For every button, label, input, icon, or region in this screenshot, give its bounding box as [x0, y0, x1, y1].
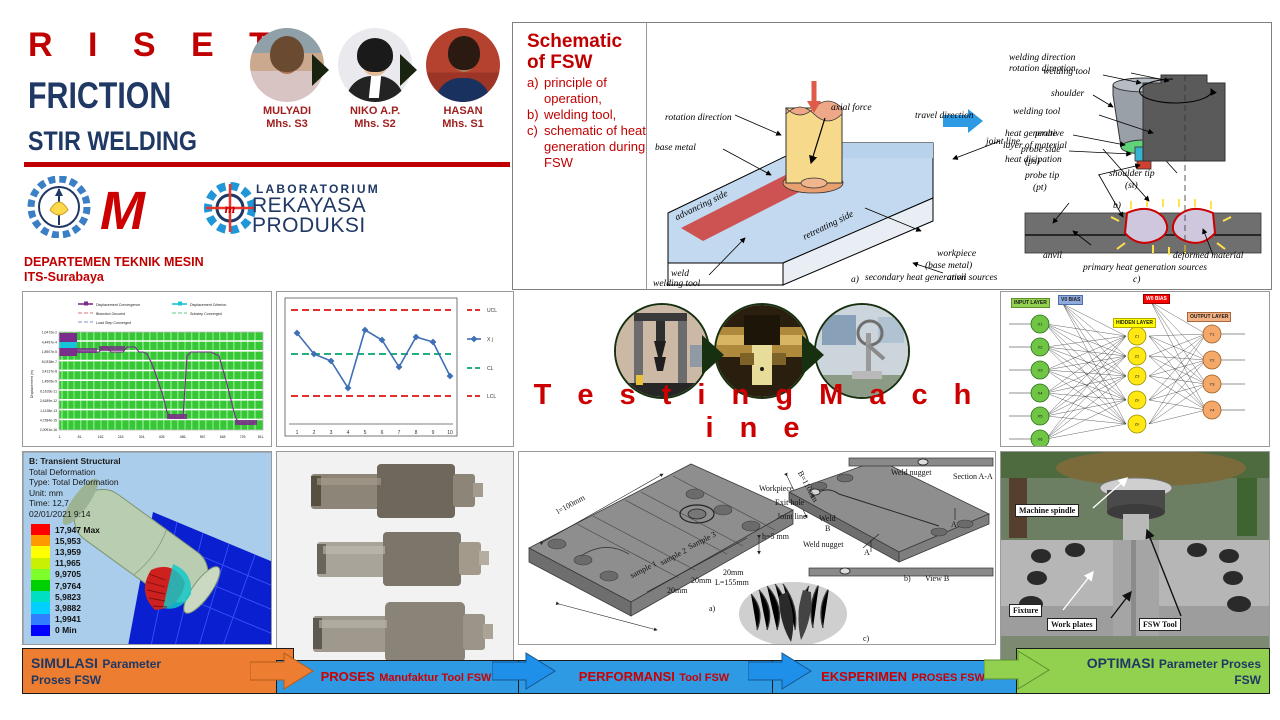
dim-20mm-2: 20mm [691, 576, 711, 585]
svg-text:X3: X3 [1038, 368, 1044, 373]
ann-output-layer-label: OUTPUT LAYER [1187, 312, 1231, 322]
legend-row: 9,9705 [31, 569, 100, 580]
svg-text:3: 3 [330, 430, 333, 436]
label-weld-nugget-2: Weld nugget [891, 468, 931, 477]
svg-text:Load Step Converged: Load Step Converged [96, 321, 131, 325]
svg-text:729.: 729. [240, 435, 247, 439]
header-divider [24, 162, 510, 167]
flow-arrow-4-icon [984, 650, 1050, 690]
label-heat-generative: heat generative [1005, 129, 1064, 139]
flow-arrow-3-icon [748, 652, 812, 690]
legend-row: 1,9941 [31, 614, 100, 625]
flow-arrow-1-icon [250, 652, 314, 690]
svg-text:X4: X4 [1038, 391, 1044, 396]
label-work-plates: Work plates [1047, 618, 1097, 631]
svg-text:81.: 81. [78, 435, 83, 439]
fig-a-caption: a) [851, 275, 859, 285]
svg-text:4,4497e-4: 4,4497e-4 [42, 340, 57, 344]
label-section-aa: Section A-A [953, 472, 993, 481]
svg-text:567.: 567. [200, 435, 207, 439]
label-st: (st) [1125, 181, 1138, 191]
title-friction: FRICTION [28, 75, 171, 117]
department-line1: DEPARTEMEN TEKNIK MESIN [24, 255, 204, 269]
svg-text:8,0338e-7: 8,0338e-7 [42, 360, 57, 364]
label-base-metal-b: (base metal) [925, 261, 972, 271]
ann-hidden-layer-label: HIDDEN LAYER [1113, 318, 1156, 328]
svg-text:Displacement Criterion: Displacement Criterion [190, 303, 226, 307]
svg-text:Y2: Y2 [1210, 358, 1216, 363]
svg-text:486.: 486. [180, 435, 187, 439]
testing-machine-title: T e s t i n g M a c h i n e [518, 379, 996, 445]
research-poster: R I S E T FRICTION STIR WELDING MULYADI … [0, 0, 1280, 720]
label-shoulder-tip: shoulder tip [1109, 169, 1155, 179]
simulation-color-legend: 17,947 Max 15,953 13,959 11,965 9,9705 7… [31, 524, 100, 636]
simulation-time: Time: 12,7 [29, 498, 121, 509]
chevron-right-icon [312, 54, 329, 86]
researcher-level: Mhs. S1 [442, 118, 484, 130]
ann-v0-bias-label: V0 BIAS [1058, 295, 1083, 305]
convergence-chart-panel: Displacement Convergence Displacement Cr… [22, 291, 272, 447]
legend-row: 11,965 [31, 558, 100, 569]
svg-text:2,0091e-16: 2,0091e-16 [40, 428, 57, 432]
label-welding-direction: welding direction [1009, 53, 1075, 63]
legend-row: 13,959 [31, 546, 100, 557]
label-a-section-1: A [864, 548, 870, 557]
researcher-name: NIKO A.P. [350, 105, 400, 117]
legend-row: 5,9823 [31, 591, 100, 602]
convergence-chart: Displacement Convergence Displacement Cr… [23, 292, 272, 447]
simulation-type: Type: Total Deformation [29, 477, 121, 488]
simulation-panel: B: Transient Structural Total Deformatio… [22, 451, 272, 645]
svg-text:X2: X2 [1038, 345, 1044, 350]
researcher-name: HASAN [443, 105, 482, 117]
label-fsw-tool: FSW Tool [1139, 618, 1181, 631]
svg-text:7: 7 [398, 430, 401, 436]
flow-step-optimasi[interactable]: OPTIMASI Parameter Proses FSW [1016, 648, 1270, 694]
label-rotation-direction: rotation direction [665, 113, 732, 123]
hidden-nodes: Z1Z2Z3 ZnZn [1128, 327, 1146, 433]
fractograph [739, 582, 847, 645]
fig-b-caption: b) [1113, 201, 1121, 211]
label-layer-of-material: layer of material [1003, 141, 1067, 151]
process-flow-banner: SIMULASI Parameter Proses FSW PROSES Man… [22, 648, 1270, 694]
svg-text:4: 4 [347, 430, 350, 436]
flow-arrow-2-icon [492, 652, 556, 690]
svg-text:UCL: UCL [487, 308, 497, 314]
label-shoulder: shoulder [1051, 89, 1084, 99]
svg-text:Substep Converged: Substep Converged [190, 312, 222, 316]
label-travel-direction: travel direction [915, 111, 973, 121]
label-secondary-heat: secondary heat generation sources [865, 273, 997, 283]
ann-input-layer-label: INPUT LAYER [1011, 298, 1050, 308]
label-weld: Weld [819, 514, 836, 523]
title-stir-welding: STIR WELDING [28, 126, 197, 157]
svg-text:X1: X1 [1038, 322, 1044, 327]
svg-text:Y1: Y1 [1210, 332, 1216, 337]
mesin-logo-icon: M [100, 180, 141, 242]
plot-area [59, 332, 263, 430]
label-pt: (pt) [1033, 183, 1047, 193]
fig-c-caption: c) [863, 634, 869, 643]
chevron-right-icon [802, 335, 824, 375]
researchers-group: MULYADI Mhs. S3 NIKO A.P. Mhs. S2 HASAN … [250, 28, 500, 153]
label-anvil-c: anvil [1043, 251, 1062, 261]
specimen-drawing-panel: l=100mm B=110mm h=5 mm L=155mm 20mm 20mm… [518, 451, 996, 645]
svg-text:1: 1 [296, 430, 299, 436]
svg-text:4,7284e-15: 4,7284e-15 [40, 419, 57, 423]
svg-text:Z2: Z2 [1135, 354, 1140, 359]
svg-text:162.: 162. [98, 435, 105, 439]
simulation-unit: Unit: mm [29, 488, 121, 499]
label-fixture: Fixture [1009, 604, 1042, 617]
page-title: R I S E T [28, 26, 283, 65]
label-base-metal: base metal [655, 143, 696, 153]
legend-row: 17,947 Max [31, 524, 100, 535]
lab-name-line3: PRODUKSI [252, 214, 366, 238]
department-line2: ITS-Surabaya [24, 270, 104, 284]
svg-text:10: 10 [447, 430, 453, 436]
label-welding-tool-a: welding tool [653, 279, 700, 289]
label-view-b: View B [925, 574, 949, 583]
label-heat-disipation: heat disipation [1005, 155, 1062, 165]
svg-text:Zn: Zn [1135, 422, 1140, 427]
svg-text:6: 6 [381, 430, 384, 436]
label-machine-spindle: Machine spindle [1015, 504, 1079, 517]
svg-text:405.: 405. [159, 435, 166, 439]
researcher-3: HASAN Mhs. S1 [426, 28, 500, 131]
svg-text:1,0472e-2: 1,0472e-2 [42, 331, 57, 335]
label-welding-tool-c: welding tool [1013, 107, 1060, 117]
svg-text:1.: 1. [59, 435, 62, 439]
ann-w0-bias-label: W0 BIAS [1143, 294, 1170, 304]
svg-text:9: 9 [432, 430, 435, 436]
svg-text:324.: 324. [139, 435, 146, 439]
svg-text:1,1128e-13: 1,1128e-13 [40, 409, 57, 413]
ann-diagram-panel: X1X2X3 X4X5X6 Z1Z2Z3 ZnZn [1000, 291, 1270, 447]
poster-header: R I S E T FRICTION STIR WELDING MULYADI … [0, 0, 512, 288]
svg-text:3,4137e-8: 3,4137e-8 [42, 370, 57, 374]
svg-text:Displacement Convergence: Displacement Convergence [96, 303, 140, 307]
svg-text:Y4: Y4 [1210, 408, 1216, 413]
label-axial-force: axial force [831, 103, 872, 113]
label-weld: weld [671, 269, 689, 279]
label-exit-hole: Exit hole [775, 498, 804, 507]
control-chart: 1234 5678 910 UCL X j CL LCL [277, 292, 514, 447]
simulation-study: B: Transient Structural [29, 456, 121, 467]
legend-row: 0 Min [31, 625, 100, 636]
fig-a-caption: a) [709, 604, 715, 613]
testing-machine-panel: T e s t i n g M a c h i n e [518, 291, 996, 447]
dim-L-155mm: L=155mm [715, 578, 749, 587]
label-workpiece: workpiece [937, 249, 976, 259]
legend-row: 3,9882 [31, 602, 100, 613]
simulation-info: B: Transient Structural Total Deformatio… [29, 456, 121, 519]
svg-text:2,6189e-12: 2,6189e-12 [40, 399, 57, 403]
its-logo-icon [26, 176, 92, 238]
svg-text:6,1633e-11: 6,1633e-11 [40, 389, 57, 393]
researcher-level: Mhs. S2 [354, 118, 396, 130]
legend-row: 7,9764 [31, 580, 100, 591]
researcher-name: MULYADI [263, 105, 311, 117]
specimen-drawing [519, 452, 996, 645]
dim-h-5mm: h=5 mm [762, 532, 789, 541]
label-joint-line: Joint line [777, 512, 807, 521]
svg-text:Bisection Occured: Bisection Occured [96, 312, 125, 316]
label-workpiece: Workpiece [759, 484, 793, 493]
label-deformed-material: deformed material [1173, 251, 1243, 261]
gear-icon: m [204, 182, 256, 234]
fsw-schematic-figures [513, 23, 1271, 289]
fig-c-caption: c) [1133, 275, 1140, 285]
svg-text:Z3: Z3 [1135, 374, 1140, 379]
label-weld-nugget-1: Weld nugget [803, 540, 843, 549]
svg-text:5: 5 [364, 430, 367, 436]
dim-20mm-1: 20mm [667, 586, 687, 595]
svg-text:X5: X5 [1038, 414, 1044, 419]
svg-text:LCL: LCL [487, 394, 496, 400]
svg-text:Y3: Y3 [1210, 382, 1216, 387]
schematic-panel: Schematic of FSW a)principle of operatio… [512, 22, 1272, 290]
svg-text:m: m [225, 202, 236, 217]
legend-row: 15,953 [31, 535, 100, 546]
svg-text:1,8907e-5: 1,8907e-5 [42, 350, 57, 354]
svg-text:X j: X j [487, 337, 493, 343]
svg-text:Zn: Zn [1135, 398, 1140, 403]
label-b-section: B [825, 524, 830, 533]
svg-text:648.: 648. [220, 435, 227, 439]
svg-text:CL: CL [487, 366, 494, 372]
chevron-right-icon [400, 54, 417, 86]
simulation-timestamp: 02/01/2021 9:14 [29, 509, 121, 520]
y-axis-label: Displacement (m) [30, 370, 34, 398]
svg-text:Z1: Z1 [1135, 334, 1140, 339]
avatar [426, 28, 500, 102]
svg-text:8: 8 [415, 430, 418, 436]
label-a-section-2: A [951, 520, 957, 529]
svg-text:X6: X6 [1038, 437, 1044, 442]
svg-text:2: 2 [313, 430, 316, 436]
label-probe-tip: probe tip [1025, 171, 1059, 181]
fig-b-caption: b) [904, 574, 911, 583]
label-rotation-direction-c: rotation direction [1009, 64, 1076, 74]
svg-text:243.: 243. [118, 435, 125, 439]
label-primary-heat: primary heat generation sources [1083, 263, 1207, 273]
svg-text:1,4505e-9: 1,4505e-9 [42, 380, 57, 384]
researcher-level: Mhs. S3 [266, 118, 308, 130]
svg-text:811.: 811. [258, 435, 264, 439]
dim-20mm-3: 20mm [723, 568, 743, 577]
control-chart-panel: 1234 5678 910 UCL X j CL LCL [276, 291, 514, 447]
chevron-right-icon [702, 335, 724, 375]
simulation-result: Total Deformation [29, 467, 121, 478]
